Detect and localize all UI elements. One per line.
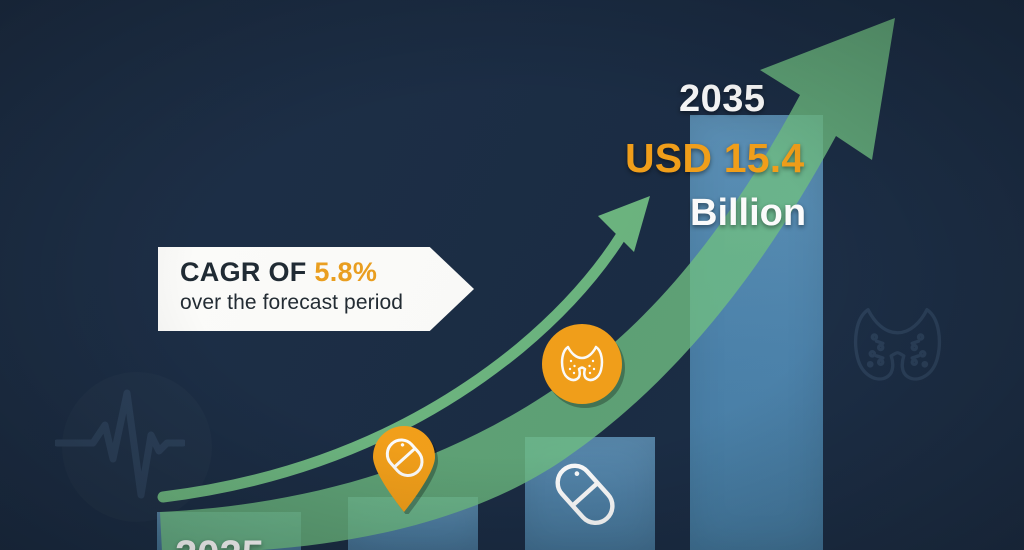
cagr-value: 5.8% [314, 257, 377, 287]
unit-label: Billion [690, 192, 806, 235]
heartbeat-ecg-icon [55, 385, 185, 510]
infographic-canvas: 2035 USD 15.4 Billion 2025 CAGR OF 5.8% … [0, 0, 1024, 550]
currency-label: USD [625, 135, 712, 181]
cagr-title: CAGR OF 5.8% [180, 258, 474, 286]
cagr-subtitle: over the forecast period [180, 291, 474, 315]
thyroid-marker-badge[interactable] [537, 319, 629, 416]
cagr-callout-banner: CAGR OF 5.8% over the forecast period [158, 247, 474, 331]
start-year-label: 2025 [175, 533, 264, 550]
pill-marker-pin[interactable] [364, 424, 444, 519]
end-year-label: 2035 [679, 78, 766, 121]
thyroid-gland-icon [845, 295, 950, 405]
pill-capsule-icon [550, 450, 628, 533]
value-number: 15.4 [724, 135, 805, 181]
cagr-title-prefix: CAGR OF [180, 257, 314, 287]
end-value-label: USD 15.4 [625, 135, 804, 182]
